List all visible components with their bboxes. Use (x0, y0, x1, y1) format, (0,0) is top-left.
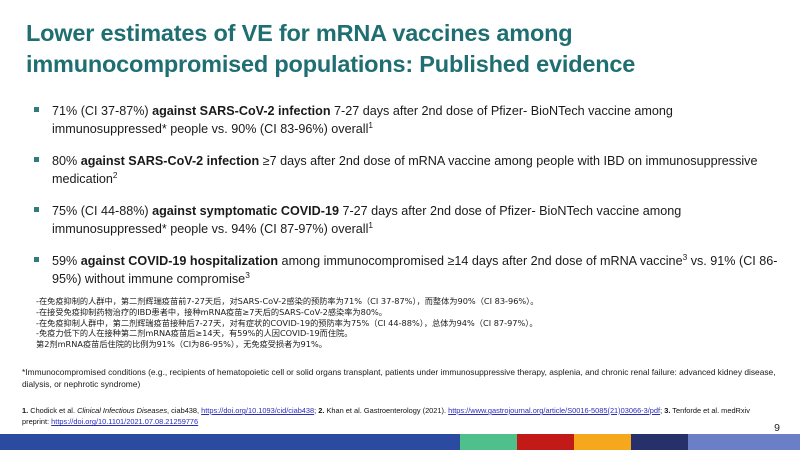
bar-segment-navy (631, 434, 688, 450)
reference-1-link[interactable]: https://doi.org/10.1093/cid/ciab438 (201, 406, 314, 415)
bar-segment-orange (574, 434, 631, 450)
chinese-line-2: -在接受免疫抑制药物治疗的IBD患者中，接种mRNA疫苗≥7天后的SARS-Co… (36, 307, 788, 318)
chinese-line-4: -免疫力低下的人在接种第二剂mRNA疫苗后≥14天，有59%的人因COVID-1… (36, 328, 788, 339)
chinese-line-1: -在免疫抑制的人群中，第二剂辉瑞疫苗前7-27天后，对SARS-CoV-2感染的… (36, 296, 788, 307)
bullet-2-bold: against SARS-CoV-2 infection (81, 154, 259, 168)
reference-2-link[interactable]: https://www.gastrojournal.org/article/S0… (448, 406, 660, 415)
bullet-4-tail: among immunocompromised ≥14 days after 2… (278, 254, 683, 268)
bar-segment-periwinkle (688, 434, 800, 450)
bullet-list: 71% (CI 37-87%) against SARS-CoV-2 infec… (30, 102, 778, 302)
bullet-marker-icon (34, 107, 39, 112)
bottom-color-bar (0, 434, 800, 450)
references-line: 1. Chodick et al. Clinical Infectious Di… (22, 405, 778, 428)
bullet-4-bold: against COVID-19 hospitalization (81, 254, 278, 268)
page-number: 9 (774, 422, 780, 434)
reference-2-author: Khan et al. Gastroenterology (2021). (324, 406, 448, 415)
bullet-4-superscript-2: 3 (245, 270, 250, 280)
bar-segment-blue (0, 434, 460, 450)
chinese-line-3: -在免疫抑制人群中，第二剂辉瑞疫苗接种后7-27天，对有症状的COVID-19的… (36, 318, 788, 329)
bullet-item-2: 80% against SARS-CoV-2 infection ≥7 days… (30, 152, 778, 189)
reference-3-link[interactable]: https://doi.org/10.1101/2021.07.08.21259… (51, 417, 198, 426)
bullet-1-bold: against SARS-CoV-2 infection (152, 104, 330, 118)
bullet-item-1: 71% (CI 37-87%) against SARS-CoV-2 infec… (30, 102, 778, 139)
bar-segment-red (517, 434, 574, 450)
bullet-4-lead: 59% (52, 254, 81, 268)
reference-1-author: Chodick et al. (28, 406, 77, 415)
bullet-marker-icon (34, 157, 39, 162)
bullet-item-4: 59% against COVID-19 hospitalization amo… (30, 252, 778, 289)
bullet-marker-icon (34, 207, 39, 212)
bullet-marker-icon (34, 257, 39, 262)
reference-1-detail: , ciab438, (167, 406, 201, 415)
bullet-3-bold: against symptomatic COVID-19 (152, 204, 339, 218)
bullet-1-superscript: 1 (368, 120, 373, 130)
bullet-1-lead: 71% (CI 37-87%) (52, 104, 152, 118)
chinese-translation-block: -在免疫抑制的人群中，第二剂辉瑞疫苗前7-27天后，对SARS-CoV-2感染的… (36, 296, 788, 350)
slide-canvas: Lower estimates of VE for mRNA vaccines … (0, 0, 800, 450)
bar-segment-green (460, 434, 517, 450)
slide-title: Lower estimates of VE for mRNA vaccines … (26, 18, 772, 79)
footnote-immunocompromised-definition: *Immunocompromised conditions (e.g., rec… (22, 366, 782, 390)
bullet-3-superscript: 1 (368, 220, 373, 230)
bullet-2-superscript: 2 (113, 170, 118, 180)
bullet-3-lead: 75% (CI 44-88%) (52, 204, 152, 218)
bullet-item-3: 75% (CI 44-88%) against symptomatic COVI… (30, 202, 778, 239)
chinese-line-5: 第2剂mRNA疫苗后住院的比例为91%（CI为86-95%），无免疫受损者为91… (36, 339, 788, 350)
bullet-2-lead: 80% (52, 154, 81, 168)
reference-1-journal: Clinical Infectious Diseases (77, 406, 167, 415)
